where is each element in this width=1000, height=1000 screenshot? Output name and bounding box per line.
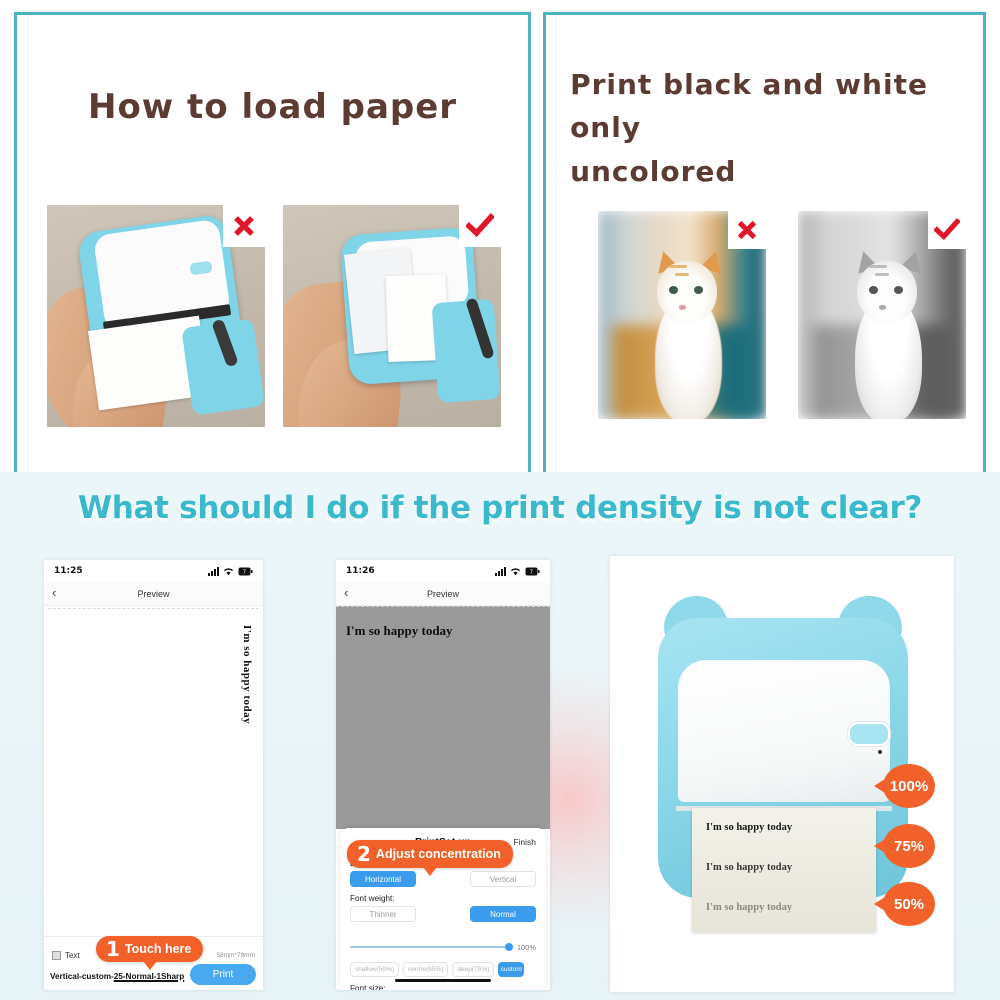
printer-body: I'm so happy today I'm so happy today I'…	[658, 618, 908, 898]
cat-stripe	[875, 273, 889, 276]
concentration-value: 100%	[517, 943, 536, 952]
check-mark-icon	[466, 213, 494, 239]
cat-eye-left	[669, 286, 678, 294]
callout-tail	[423, 867, 437, 876]
callout-step-2: 2 Adjust concentration	[347, 840, 513, 868]
font-weight-label: Font weight:	[350, 894, 536, 903]
printed-line-100: I'm so happy today	[706, 822, 792, 833]
spec-underlined: 25-Normal-1Sharp	[114, 972, 185, 981]
back-button[interactable]: ‹	[52, 586, 56, 599]
phone-screen-preview: 11:25 7 ‹ Preview I'm so happy today Tex…	[44, 560, 263, 990]
direction-option-vertical[interactable]: Vertical	[470, 871, 536, 887]
density-badge-75: 75%	[883, 824, 935, 868]
cat-nose	[679, 305, 686, 310]
spec-prefix: Vertical-custom-	[50, 972, 114, 981]
wifi-icon	[510, 567, 521, 576]
preview-canvas[interactable]: I'm so happy today	[48, 608, 259, 934]
callout-step-number: 1	[96, 939, 125, 959]
font-size-label: Font size:	[350, 984, 536, 990]
concentration-slider[interactable]: 100%	[350, 940, 536, 954]
printer-status-led	[878, 750, 882, 754]
x-mark-badge	[223, 205, 265, 247]
nav-bar: ‹ Preview	[44, 582, 263, 606]
font-weight-option-thinner[interactable]: Thinner	[350, 906, 416, 922]
preview-text: I'm so happy today	[346, 623, 453, 639]
cat-nose	[879, 305, 886, 310]
check-mark-badge	[928, 211, 966, 249]
text-checkbox[interactable]	[52, 951, 61, 960]
preview-canvas-dimmed: I'm so happy today	[336, 606, 550, 829]
printed-receipt-paper: I'm so happy today I'm so happy today I'…	[692, 808, 876, 932]
paper-size-label: 58mm*79mm	[216, 952, 255, 959]
photo-printer-wrong	[47, 205, 265, 427]
check-mark-icon	[934, 218, 960, 242]
cat-stripe	[869, 265, 887, 268]
density-headline: What should I do if the print density is…	[0, 490, 1000, 526]
printed-line-50: I'm so happy today	[706, 902, 792, 913]
concentration-presets: shallow(50%) centre(65%) deep(75%) custo…	[350, 962, 536, 977]
phone-screen-printsetup: 11:26 7 ‹ Preview I'm so happy today Pri…	[336, 560, 550, 990]
svg-text:7: 7	[243, 569, 246, 575]
callout-step-text: Touch here	[125, 942, 203, 956]
status-time: 11:26	[346, 566, 375, 576]
direction-options: Horizontal Vertical	[350, 871, 536, 887]
page-title: Preview	[44, 589, 263, 599]
finish-button[interactable]: Finish	[513, 837, 536, 847]
page-title: Preview	[336, 589, 550, 599]
x-mark-badge	[728, 211, 766, 249]
print-spec-label[interactable]: Vertical-custom-25-Normal-1Sharp	[50, 972, 184, 981]
panel-how-to-load-paper: How to load paper	[14, 12, 531, 478]
panel-load-paper-title: How to load paper	[17, 87, 528, 127]
density-badge-50: 50%	[883, 882, 935, 926]
status-bar: 11:26 7	[336, 560, 550, 582]
callout-tail	[143, 961, 157, 970]
wifi-icon	[223, 567, 234, 576]
mini-printer-illustration: I'm so happy today I'm so happy today I'…	[658, 596, 908, 898]
text-checkbox-label: Text	[65, 951, 80, 960]
top-panels-row: How to load paper	[0, 0, 1000, 472]
svg-text:7: 7	[530, 569, 533, 575]
preset-shallow[interactable]: shallow(50%)	[350, 962, 399, 977]
cat-head	[857, 261, 917, 323]
battery-icon: 7	[525, 567, 540, 576]
panel-print-black-and-white: Print black and white only uncolored	[543, 12, 986, 478]
slider-knob[interactable]	[505, 943, 513, 951]
status-icons: 7	[495, 567, 540, 576]
printer-power-button	[848, 722, 890, 746]
printer-result-card: I'm so happy today I'm so happy today I'…	[610, 556, 954, 992]
bw-photo-row	[598, 211, 966, 419]
cat-stripe	[675, 273, 689, 276]
cat-head	[657, 261, 717, 323]
signal-bars-icon	[495, 567, 506, 576]
panel-bw-title-line1: Print black and white only	[570, 63, 983, 150]
x-mark-icon	[735, 218, 759, 242]
density-badge-100: 100%	[883, 764, 935, 808]
slider-track[interactable]	[350, 946, 509, 948]
preset-deep[interactable]: deep(75%)	[452, 962, 494, 977]
font-weight-options: Thinner Normal	[350, 906, 536, 922]
status-bar: 11:25 7	[44, 560, 263, 582]
nav-bar: ‹ Preview	[336, 582, 550, 606]
photo-cat-color	[598, 211, 766, 419]
preview-text-vertical: I'm so happy today	[241, 625, 253, 724]
photo-cat-grayscale	[798, 211, 966, 419]
cat-eye-right	[894, 286, 903, 294]
panel-bw-title: Print black and white only uncolored	[570, 63, 983, 193]
cat-eye-left	[869, 286, 878, 294]
font-weight-option-normal[interactable]: Normal	[470, 906, 536, 922]
direction-option-horizontal[interactable]: Horizontal	[350, 871, 416, 887]
printed-line-75: I'm so happy today	[706, 862, 792, 873]
callout-step-text: Adjust concentration	[376, 847, 513, 861]
check-mark-badge	[459, 205, 501, 247]
text-checkbox-row[interactable]: Text	[52, 951, 80, 960]
cat-eye-right	[694, 286, 703, 294]
callout-step-1: 1 Touch here	[96, 936, 203, 962]
battery-icon: 7	[238, 567, 253, 576]
panel-bw-title-line2: uncolored	[570, 150, 983, 193]
cat-stripe	[669, 265, 687, 268]
callout-step-number: 2	[347, 844, 376, 864]
status-time: 11:25	[54, 566, 83, 576]
home-indicator	[395, 979, 491, 982]
load-paper-photo-row	[47, 205, 501, 427]
status-icons: 7	[208, 567, 253, 576]
photo-printer-correct	[283, 205, 501, 427]
signal-bars-icon	[208, 567, 219, 576]
preset-custom[interactable]: custom	[498, 962, 524, 977]
print-button[interactable]: Print	[190, 964, 256, 985]
back-button[interactable]: ‹	[344, 586, 348, 599]
preset-centre[interactable]: centre(65%)	[403, 962, 448, 977]
x-mark-icon	[231, 213, 257, 239]
